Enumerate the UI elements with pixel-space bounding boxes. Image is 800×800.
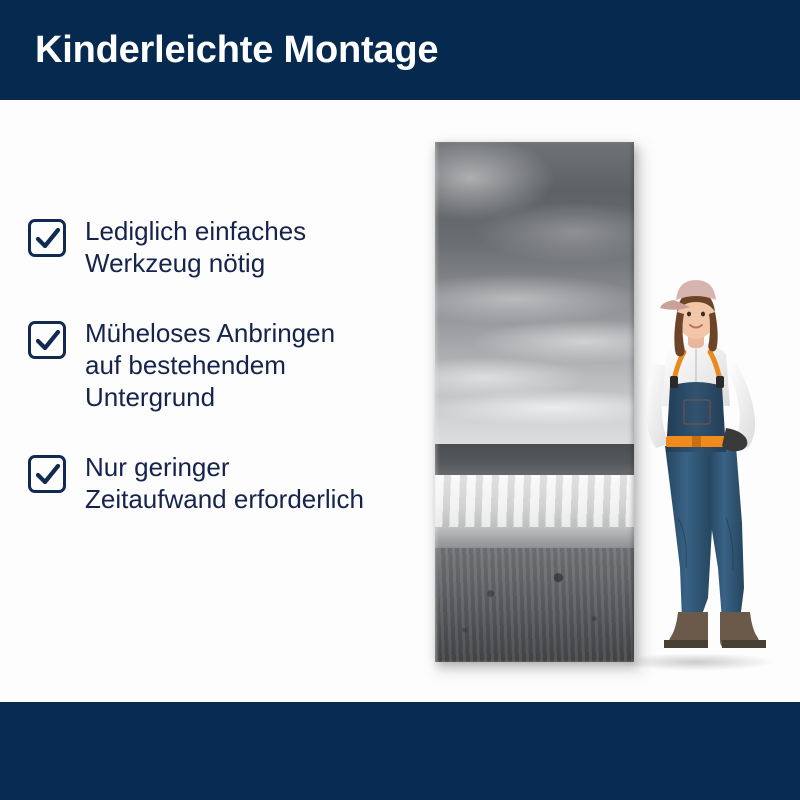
artwork-sky	[435, 142, 634, 444]
footer-bar: NORILIVING	[0, 702, 800, 800]
model-eye-left	[687, 312, 691, 317]
list-item-line: Lediglich einfaches	[85, 215, 306, 247]
list-item-line: auf bestehendem	[85, 349, 335, 381]
list-item-line: Werkzeug nötig	[85, 247, 306, 279]
list-item-text: Lediglich einfaches Werkzeug nötig	[85, 215, 306, 279]
list-item: Müheloses Anbringen auf bestehendem Unte…	[28, 317, 428, 413]
list-item-line: Zeitaufwand erforderlich	[85, 483, 364, 515]
model-left-leg	[665, 446, 712, 620]
artwork-beach	[435, 548, 634, 662]
checkbox-checked-icon	[28, 321, 66, 359]
artwork-sea	[435, 444, 634, 478]
model-right-leg	[708, 446, 744, 620]
list-item-line: Müheloses Anbringen	[85, 317, 335, 349]
page-title: Kinderleichte Montage	[35, 27, 438, 73]
list-item-line: Untergrund	[85, 381, 335, 413]
list-item-text: Nur geringer Zeitaufwand erforderlich	[85, 451, 364, 515]
checkbox-checked-icon	[28, 455, 66, 493]
list-item-text: Müheloses Anbringen auf bestehendem Unte…	[85, 317, 335, 413]
model-ground-shadow	[616, 653, 776, 671]
model-figure	[608, 268, 783, 668]
poster-root: Kinderleichte Montage Lediglich einfache…	[0, 0, 800, 800]
checkbox-checked-icon	[28, 219, 66, 257]
list-item: Nur geringer Zeitaufwand erforderlich	[28, 451, 428, 515]
model-illustration	[608, 268, 783, 668]
canvas-artwork-beach	[435, 142, 634, 662]
header-bar: Kinderleichte Montage	[0, 0, 800, 100]
model-hair-braid	[674, 312, 684, 356]
list-item-line: Nur geringer	[85, 451, 364, 483]
artwork-surf	[435, 475, 634, 527]
list-item: Lediglich einfaches Werkzeug nötig	[28, 215, 428, 279]
feature-list: Lediglich einfaches Werkzeug nötig Mühel…	[28, 215, 428, 553]
product-canvas-print	[435, 142, 634, 662]
artwork-wet-sand	[435, 527, 634, 548]
model-eye-right	[701, 312, 705, 317]
